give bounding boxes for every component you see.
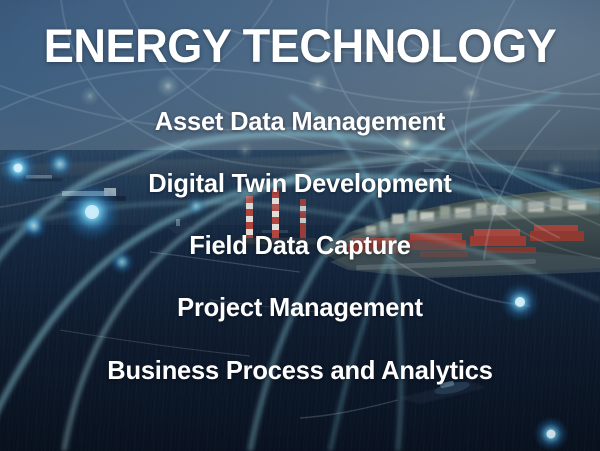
service-line-field-data-capture: Field Data Capture [6, 232, 594, 258]
service-line-asset-data-management: Asset Data Management [6, 108, 594, 134]
service-line-digital-twin-development: Digital Twin Development [6, 170, 594, 196]
slide-canvas: ENERGY TECHNOLOGY Asset Data Management … [0, 0, 600, 451]
page-title: ENERGY TECHNOLOGY [12, 22, 588, 69]
text-stack: ENERGY TECHNOLOGY Asset Data Management … [0, 0, 600, 451]
service-line-project-management: Project Management [6, 294, 594, 320]
service-line-business-process-analytics: Business Process and Analytics [6, 357, 594, 383]
